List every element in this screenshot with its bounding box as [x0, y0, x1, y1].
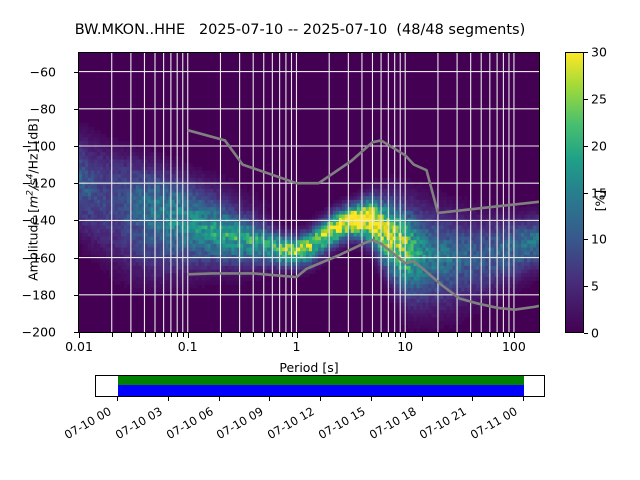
timeline-tick — [117, 397, 118, 401]
colorbar-tick — [584, 52, 588, 53]
y-tick — [74, 258, 79, 259]
colorbar-tick — [584, 286, 588, 287]
y-tick — [74, 146, 79, 147]
x-tick-minor — [171, 333, 172, 337]
x-tick-label: 10 — [397, 339, 413, 354]
x-tick-minor — [253, 333, 254, 337]
timeline-tick-label: 07-10 21 — [417, 404, 469, 442]
x-tick-minor — [329, 333, 330, 337]
x-tick-minor — [348, 333, 349, 337]
colorbar-title: [%] — [593, 161, 608, 241]
timeline-tick-label: 07-10 00 — [62, 404, 114, 442]
figure-title: BW.MKON..HHE 2025-07-10 -- 2025-07-10 (4… — [0, 22, 600, 38]
x-tick-major — [79, 333, 80, 338]
x-tick-minor — [177, 333, 178, 337]
ppsd-plot-area — [79, 53, 539, 332]
x-tick-minor — [164, 333, 165, 337]
timeline-tick-label: 07-10 18 — [366, 404, 418, 442]
y-axis-title-text: Amplitude [m2/s4/Hz] [dB] — [26, 118, 41, 281]
timeline-tick-label: 07-11 00 — [468, 404, 520, 442]
x-tick-minor — [145, 333, 146, 337]
x-tick-minor — [131, 333, 132, 337]
x-tick-minor — [112, 333, 113, 337]
coverage-bar-blue — [118, 385, 524, 396]
timeline-tick — [523, 397, 524, 401]
x-axis-title: Period [s] — [78, 360, 540, 375]
y-tick — [74, 183, 79, 184]
x-tick-label: 100 — [502, 339, 526, 354]
y-tick — [74, 332, 79, 333]
y-tick — [74, 109, 79, 110]
x-tick-minor — [373, 333, 374, 337]
timeline-tick-label: 07-10 12 — [265, 404, 317, 442]
x-tick-major — [297, 333, 298, 338]
x-tick-minor — [400, 333, 401, 337]
colorbar-tick-label: 20 — [591, 138, 607, 153]
colorbar-tick — [584, 146, 588, 147]
x-tick-minor — [388, 333, 389, 337]
data-coverage-timeline[interactable] — [95, 375, 545, 397]
x-tick-minor — [457, 333, 458, 337]
colorbar-tick — [584, 239, 588, 240]
y-tick — [74, 295, 79, 296]
x-tick-minor — [381, 333, 382, 337]
timeline-tick — [320, 397, 321, 401]
x-tick-minor — [362, 333, 363, 337]
coverage-bar-green — [118, 376, 524, 385]
x-tick-label: 1 — [293, 339, 301, 354]
colorbar-tick-label: 0 — [591, 326, 599, 341]
y-tick-label: −200 — [22, 325, 56, 340]
x-tick-minor — [272, 333, 273, 337]
colorbar-tick-label: 30 — [591, 45, 607, 60]
colorbar-tick — [584, 193, 588, 194]
x-tick-label: 0.01 — [65, 339, 93, 354]
colorbar-tick — [584, 99, 588, 100]
colorbar-tick-label: 5 — [591, 279, 599, 294]
x-tick-minor — [286, 333, 287, 337]
timeline-tick — [219, 397, 220, 401]
colorbar-tick — [584, 333, 588, 334]
x-tick-minor — [280, 333, 281, 337]
ppsd-axes[interactable] — [78, 52, 540, 333]
x-tick-minor — [509, 333, 510, 337]
timeline-tick-label: 07-10 06 — [163, 404, 215, 442]
timeline-tick-label: 07-10 15 — [316, 404, 368, 442]
x-tick-major — [405, 333, 406, 338]
colorbar-tick-label: 25 — [591, 91, 607, 106]
x-tick-minor — [481, 333, 482, 337]
timeline-tick — [168, 397, 169, 401]
x-tick-minor — [292, 333, 293, 337]
x-tick-label: 0.1 — [178, 339, 198, 354]
x-tick-minor — [264, 333, 265, 337]
x-tick-major — [514, 333, 515, 338]
timeline-tick — [472, 397, 473, 401]
timeline-tick — [269, 397, 270, 401]
x-tick-minor — [471, 333, 472, 337]
x-tick-minor — [438, 333, 439, 337]
x-tick-minor — [183, 333, 184, 337]
x-tick-minor — [503, 333, 504, 337]
y-tick — [74, 220, 79, 221]
x-tick-minor — [490, 333, 491, 337]
x-tick-minor — [395, 333, 396, 337]
x-tick-major — [188, 333, 189, 338]
timeline-tick — [371, 397, 372, 401]
y-axis-title: Amplitude [m2/s4/Hz] [dB] — [25, 75, 40, 325]
colorbar — [565, 52, 584, 333]
timeline-tick — [422, 397, 423, 401]
y-tick — [74, 72, 79, 73]
timeline-tick-label: 07-10 03 — [113, 404, 165, 442]
x-tick-minor — [155, 333, 156, 337]
timeline-tick-label: 07-10 09 — [214, 404, 266, 442]
x-tick-minor — [221, 333, 222, 337]
ppsd-figure: BW.MKON..HHE 2025-07-10 -- 2025-07-10 (4… — [0, 0, 640, 480]
x-tick-minor — [497, 333, 498, 337]
x-tick-minor — [240, 333, 241, 337]
